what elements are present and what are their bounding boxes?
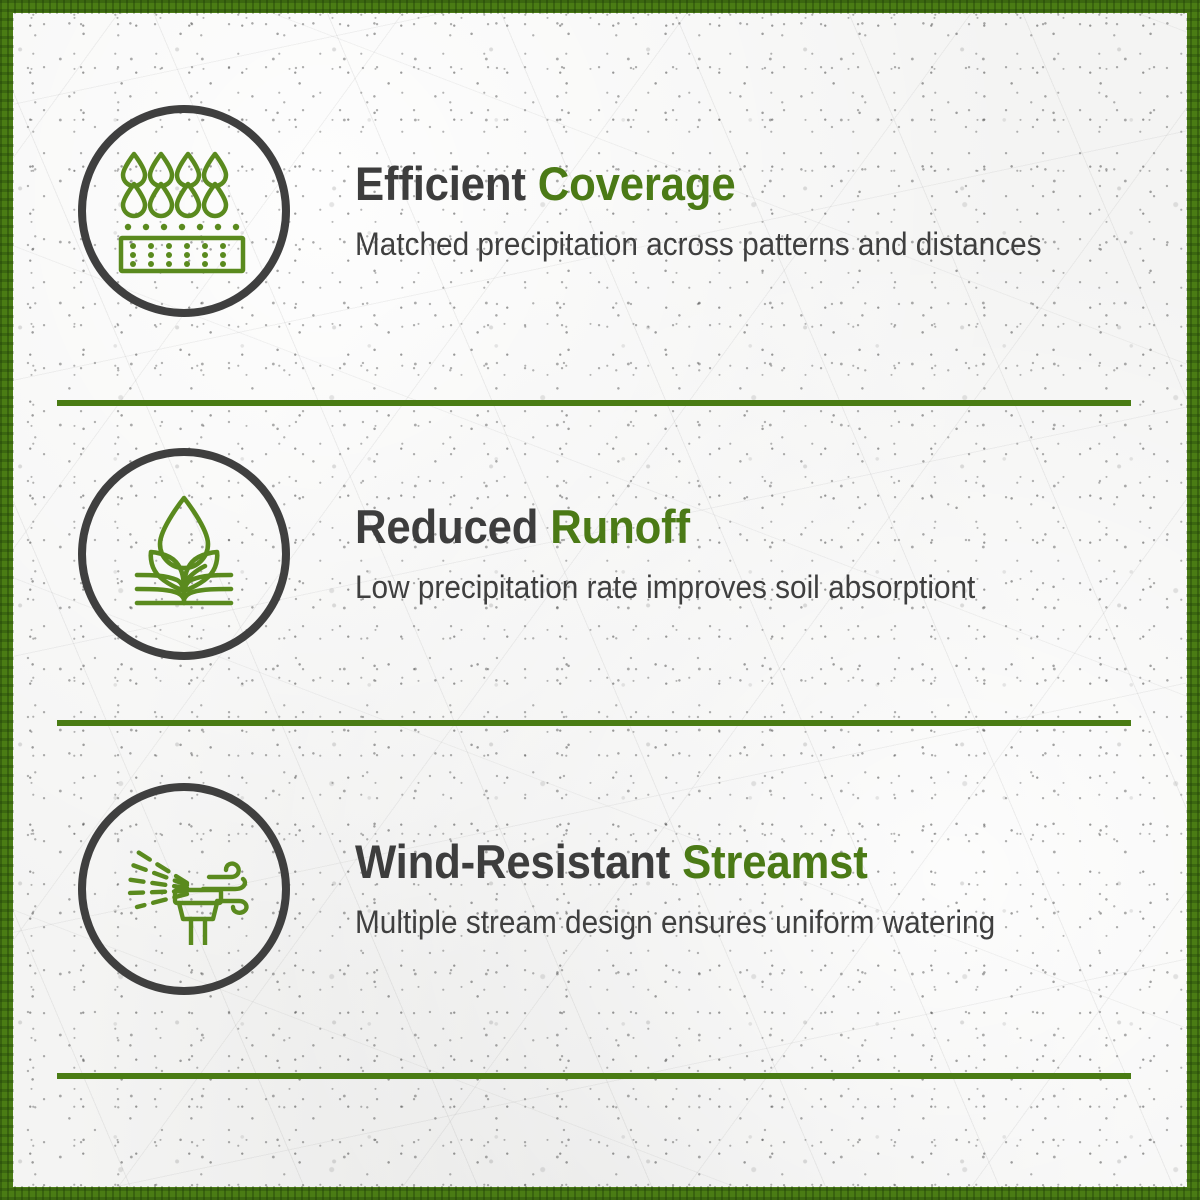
section-divider	[57, 1073, 1131, 1079]
feature-subtitle: Matched precipitation across patterns an…	[355, 226, 1092, 263]
feature-subtitle: Low precipitation rate improves soil abs…	[355, 569, 1092, 606]
feature-title-accent: Runoff	[550, 500, 690, 553]
content-panel: Efficient Coverage Matched precipitation…	[13, 13, 1187, 1187]
feature-title: Wind-Resistant Streamst	[355, 837, 1092, 888]
feature-title-accent: Coverage	[538, 157, 736, 210]
water-drop-sprout-icon	[121, 492, 247, 616]
section-divider	[57, 400, 1131, 406]
poster-frame: Efficient Coverage Matched precipitation…	[0, 0, 1200, 1200]
feature-text-block: Efficient Coverage Matched precipitation…	[355, 159, 1187, 263]
feature-text-block: Wind-Resistant Streamst Multiple stream …	[355, 837, 1187, 941]
feature-subtitle: Multiple stream design ensures uniform w…	[355, 904, 1092, 941]
icon-badge-reduced-runoff	[78, 448, 290, 660]
features-list: Efficient Coverage Matched precipitation…	[13, 13, 1187, 1187]
feature-title: Reduced Runoff	[355, 502, 1092, 553]
feature-title-dark: Reduced	[355, 500, 550, 553]
feature-title-dark: Wind-Resistant	[355, 835, 682, 888]
icon-badge-wind-resistant-streams	[78, 783, 290, 995]
feature-title-dark: Efficient	[355, 157, 538, 210]
feature-row: Reduced Runoff Low precipitation rate im…	[13, 448, 1187, 660]
feature-text-block: Reduced Runoff Low precipitation rate im…	[355, 502, 1187, 606]
icon-badge-efficient-coverage	[78, 105, 290, 317]
sprinkler-wind-spray-icon	[113, 833, 255, 945]
section-divider	[57, 720, 1131, 726]
feature-row: Wind-Resistant Streamst Multiple stream …	[13, 783, 1187, 995]
feature-title-accent: Streamst	[682, 835, 868, 888]
feature-row: Efficient Coverage Matched precipitation…	[13, 105, 1187, 317]
feature-title: Efficient Coverage	[355, 159, 1092, 210]
rain-drops-over-grid-icon	[118, 148, 250, 274]
